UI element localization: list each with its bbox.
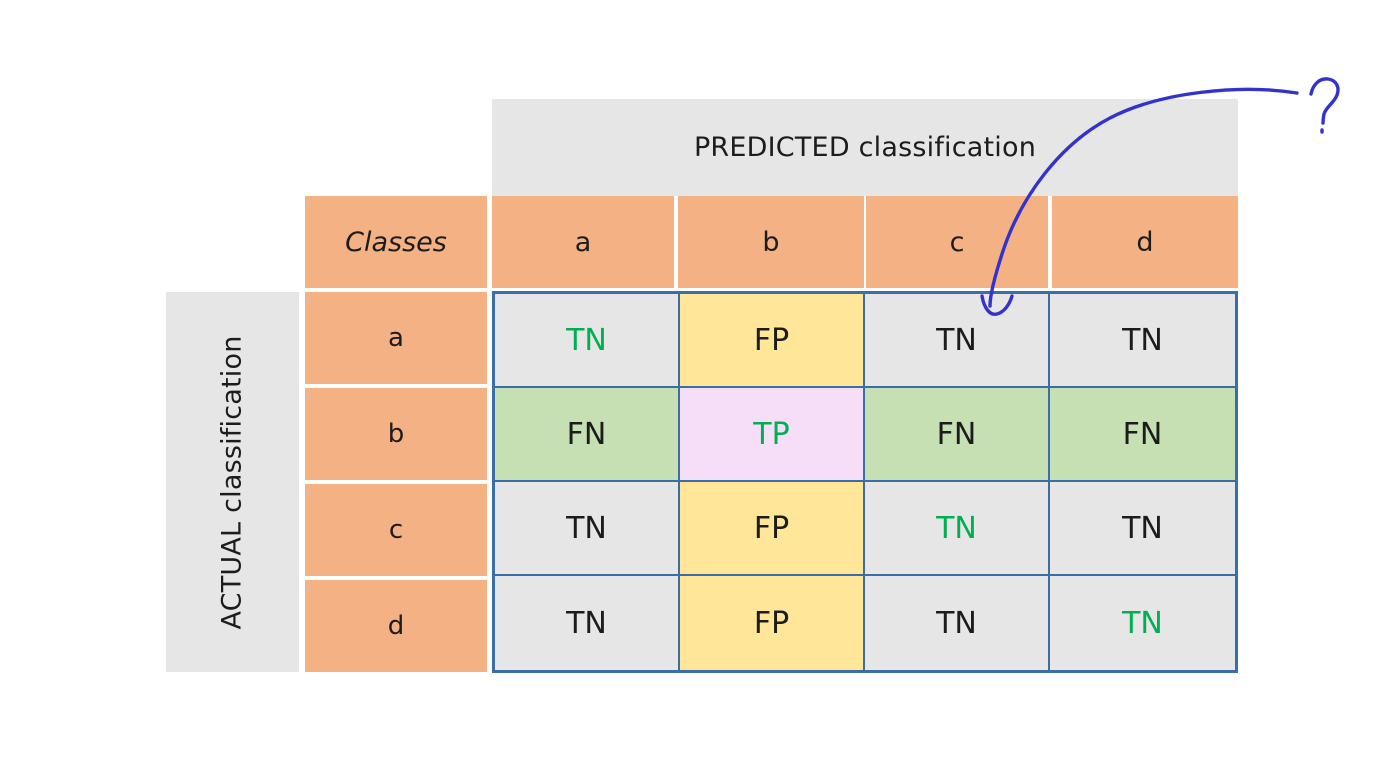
matrix-cell-b-a: FN [495, 388, 680, 482]
row-header-d: d [305, 580, 487, 672]
matrix-cell-a-d: TN [1050, 294, 1235, 388]
matrix-cell-d-a: TN [495, 576, 680, 670]
diagram-canvas: PREDICTED classification ACTUAL classifi… [0, 0, 1400, 764]
classes-corner-label: Classes [345, 227, 447, 258]
column-header-a-label: a [575, 227, 592, 258]
column-header-b-label: b [762, 227, 779, 258]
row-header-b-label: b [388, 419, 405, 449]
matrix-cell-d-d: TN [1050, 576, 1235, 670]
matrix-cell-c-b: FP [680, 482, 865, 576]
matrix-cell-a-c: TN [865, 294, 1050, 388]
matrix-cell-a-a: TN [495, 294, 680, 388]
column-header-c-label: c [950, 227, 965, 258]
row-header-a-label: a [388, 323, 404, 353]
matrix-cell-d-c: TN [865, 576, 1050, 670]
matrix-cell-b-b: TP [680, 388, 865, 482]
row-header-d-label: d [388, 611, 405, 641]
matrix-cell-c-a: TN [495, 482, 680, 576]
predicted-classification-banner: PREDICTED classification [492, 99, 1238, 196]
column-header-b: b [678, 196, 864, 288]
row-header-a: a [305, 292, 487, 384]
column-header-a: a [492, 196, 674, 288]
row-header-b: b [305, 388, 487, 480]
row-header-c: c [305, 484, 487, 576]
question-mark-icon [1311, 79, 1338, 132]
actual-classification-label: ACTUAL classification [217, 335, 248, 629]
column-header-d-label: d [1136, 227, 1153, 258]
matrix-cell-c-c: TN [865, 482, 1050, 576]
matrix-cell-b-d: FN [1050, 388, 1235, 482]
column-header-d: d [1052, 196, 1238, 288]
matrix-cell-d-b: FP [680, 576, 865, 670]
confusion-matrix: TNFPTNTNFNTPFNFNTNFPTNTNTNFPTNTN [492, 291, 1238, 673]
matrix-cell-b-c: FN [865, 388, 1050, 482]
matrix-cell-c-d: TN [1050, 482, 1235, 576]
column-header-c: c [866, 196, 1048, 288]
matrix-cell-a-b: FP [680, 294, 865, 388]
row-header-c-label: c [389, 515, 403, 545]
predicted-classification-label: PREDICTED classification [694, 132, 1036, 163]
actual-classification-banner: ACTUAL classification [166, 292, 299, 672]
classes-corner-header: Classes [305, 196, 487, 288]
